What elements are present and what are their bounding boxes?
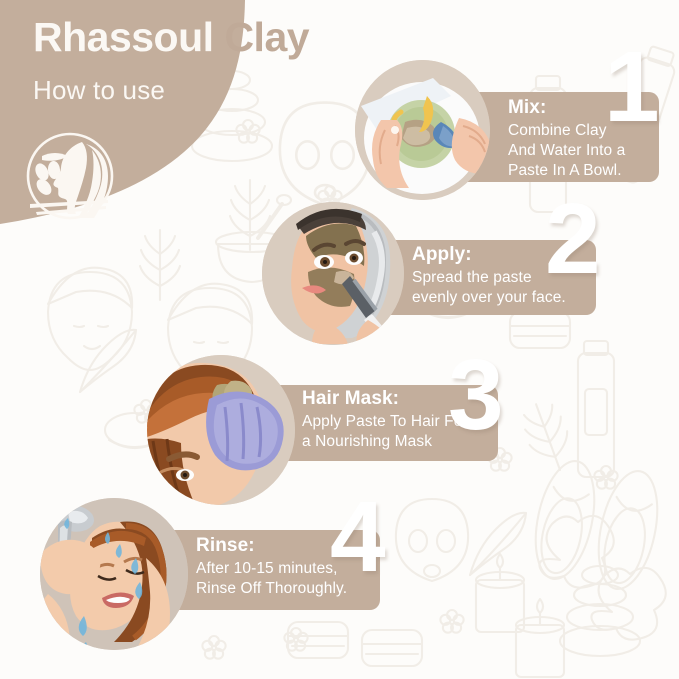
page-subtitle: How to use — [33, 75, 363, 106]
step-1-photo-hands-mixing-clay-in-bowl — [355, 60, 490, 200]
step-2-title: Apply: — [412, 244, 602, 266]
step-2-body: Spread the paste evenly over your face. — [412, 268, 602, 308]
header-text-block: Rhassoul Clay How to use — [33, 16, 363, 106]
title-word-secondary: Clay — [224, 14, 309, 60]
woman-profile-leaf-logo-icon — [20, 130, 120, 222]
step-3-photo-applying-paste-to-hair — [147, 355, 295, 505]
step-1-title: Mix: — [508, 97, 658, 119]
step-2-text: Apply: Spread the paste evenly over your… — [412, 244, 602, 308]
title-word-primary: Rhassoul — [33, 14, 214, 60]
step-4-body: After 10-15 minutes, Rinse Off Thoroughl… — [196, 559, 388, 599]
infographic-poster: Rhassoul Clay How to use — [0, 0, 679, 679]
step-4-text: Rinse: After 10-15 minutes, Rinse Off Th… — [196, 535, 388, 599]
step-1-text: Mix: Combine Clay And Water Into a Paste… — [508, 97, 658, 180]
step-4-photo-woman-rinsing-in-shower — [40, 498, 188, 650]
step-3-body: Apply Paste To Hair For a Nourishing Mas… — [302, 412, 502, 452]
step-4-title: Rinse: — [196, 535, 388, 557]
step-3-text: Hair Mask: Apply Paste To Hair For a Nou… — [302, 388, 502, 452]
step-2-photo-woman-applying-clay-mask — [262, 202, 404, 345]
step-3-title: Hair Mask: — [302, 388, 502, 410]
page-title: Rhassoul Clay — [33, 16, 363, 59]
step-1-body: Combine Clay And Water Into a Paste In A… — [508, 121, 658, 180]
